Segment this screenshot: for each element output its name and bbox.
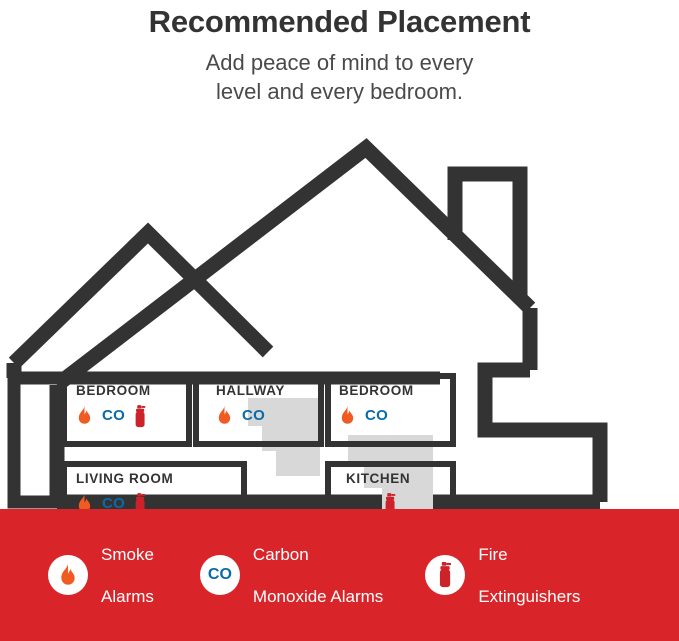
subtitle-line-1: Add peace of mind to every (0, 48, 679, 77)
room-bedroom-right: BEDROOM CO (339, 383, 414, 428)
fire-extinguisher-badge (425, 555, 465, 595)
room-icons: CO (339, 404, 414, 428)
room-bedroom-left: BEDROOM CO (76, 383, 151, 428)
legend-label-smoke-alarms: Smoke Alarms (101, 523, 154, 628)
house-diagram (0, 130, 679, 510)
room-icons: CO (216, 404, 285, 428)
co-alarm-label: CO (365, 405, 388, 427)
co-alarm-label: CO (102, 405, 125, 427)
fire-extinguisher-icon (134, 405, 147, 428)
legend-label-fire-extinguishers: Fire Extinguishers (478, 523, 580, 628)
co-alarm-badge: CO (200, 555, 240, 595)
legend-item-co-alarms: CO Carbon Monoxide Alarms (200, 523, 383, 628)
room-hallway: HALLWAY CO (216, 383, 285, 428)
infographic-page: Recommended Placement Add peace of mind … (0, 0, 679, 641)
smoke-alarm-icon (339, 405, 356, 427)
house-structure (0, 130, 679, 510)
page-title: Recommended Placement (0, 4, 679, 40)
legend-item-fire-extinguishers: Fire Extinguishers (425, 523, 580, 628)
co-badge-label: CO (208, 566, 232, 584)
page-subtitle: Add peace of mind to every level and eve… (0, 48, 679, 106)
legend-bar: Smoke Alarms CO Carbon Monoxide Alarms F… (0, 509, 679, 641)
smoke-alarm-badge (48, 555, 88, 595)
smoke-alarm-icon (216, 405, 233, 427)
subtitle-line-2: level and every bedroom. (0, 77, 679, 106)
co-alarm-label: CO (242, 405, 265, 427)
legend-label-co-alarms: Carbon Monoxide Alarms (253, 523, 383, 628)
legend-item-smoke-alarms: Smoke Alarms (48, 523, 154, 628)
header: Recommended Placement Add peace of mind … (0, 0, 679, 106)
room-icons: CO (76, 404, 151, 428)
smoke-alarm-icon (76, 405, 93, 427)
